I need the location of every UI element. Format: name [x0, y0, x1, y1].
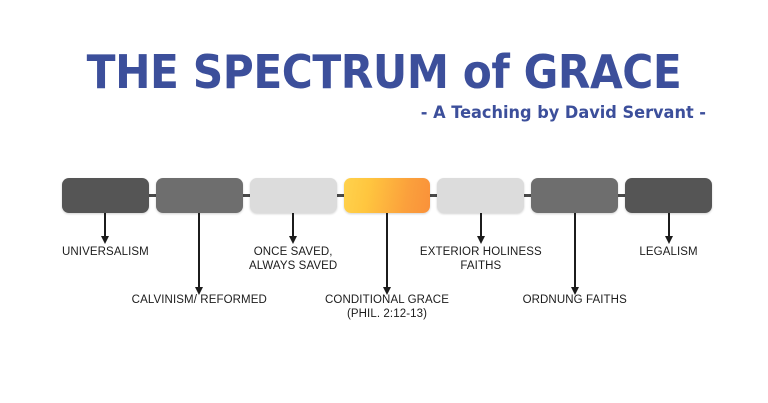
segment-label-line2: ALWAYS SAVED: [249, 259, 337, 273]
segment-label-conditional-grace: CONDITIONAL GRACE(PHIL. 2:12-13): [325, 293, 449, 321]
segment-label-line1: EXTERIOR HOLINESS: [420, 245, 542, 259]
pointer-arrow-ordnung-faiths: [574, 213, 576, 288]
spectrum-segment-conditional-grace[interactable]: [344, 178, 431, 213]
spectrum-segment-once-saved-always-saved[interactable]: [250, 178, 337, 213]
spectrum-segment-ordnung-faiths[interactable]: [531, 178, 618, 213]
segment-label-line1: ONCE SAVED,: [249, 245, 337, 259]
header: THE SPECTRUM of GRACE - A Teaching by Da…: [0, 46, 768, 124]
segment-label-line1: LEGALISM: [639, 245, 697, 259]
pointer-arrow-calvinism-reformed: [198, 213, 200, 288]
segment-label-universalism: UNIVERSALISM: [62, 245, 149, 259]
segment-label-line1: CONDITIONAL GRACE: [325, 293, 449, 307]
segment-label-calvinism-reformed: CALVINISM/ REFORMED: [132, 293, 267, 307]
segment-label-line2: FAITHS: [420, 259, 542, 273]
spectrum-segment-legalism[interactable]: [625, 178, 712, 213]
segment-label-line1: ORDNUNG FAITHS: [523, 293, 627, 307]
segment-label-line2: (PHIL. 2:12-13): [325, 307, 449, 321]
subtitle: - A Teaching by David Servant -: [35, 102, 706, 124]
page-title: THE SPECTRUM of GRACE: [31, 46, 738, 98]
spectrum-of-grace-infographic: THE SPECTRUM of GRACE - A Teaching by Da…: [0, 0, 768, 403]
pointer-arrow-conditional-grace: [386, 213, 388, 288]
spectrum-segment-universalism[interactable]: [62, 178, 149, 213]
spectrum-bar: [62, 178, 712, 213]
segment-label-legalism: LEGALISM: [639, 245, 697, 259]
pointer-arrow-exterior-holiness-faiths: [480, 213, 482, 237]
segment-label-line1: CALVINISM/ REFORMED: [132, 293, 267, 307]
spectrum-segment-exterior-holiness-faiths[interactable]: [437, 178, 524, 213]
segment-label-once-saved-always-saved: ONCE SAVED,ALWAYS SAVED: [249, 245, 337, 273]
spectrum-segment-calvinism-reformed[interactable]: [156, 178, 243, 213]
segment-label-ordnung-faiths: ORDNUNG FAITHS: [523, 293, 627, 307]
segment-label-exterior-holiness-faiths: EXTERIOR HOLINESSFAITHS: [420, 245, 542, 273]
pointer-arrow-universalism: [104, 213, 106, 237]
pointer-arrow-legalism: [668, 213, 670, 237]
pointer-arrow-once-saved-always-saved: [292, 213, 294, 237]
segment-label-line1: UNIVERSALISM: [62, 245, 149, 259]
